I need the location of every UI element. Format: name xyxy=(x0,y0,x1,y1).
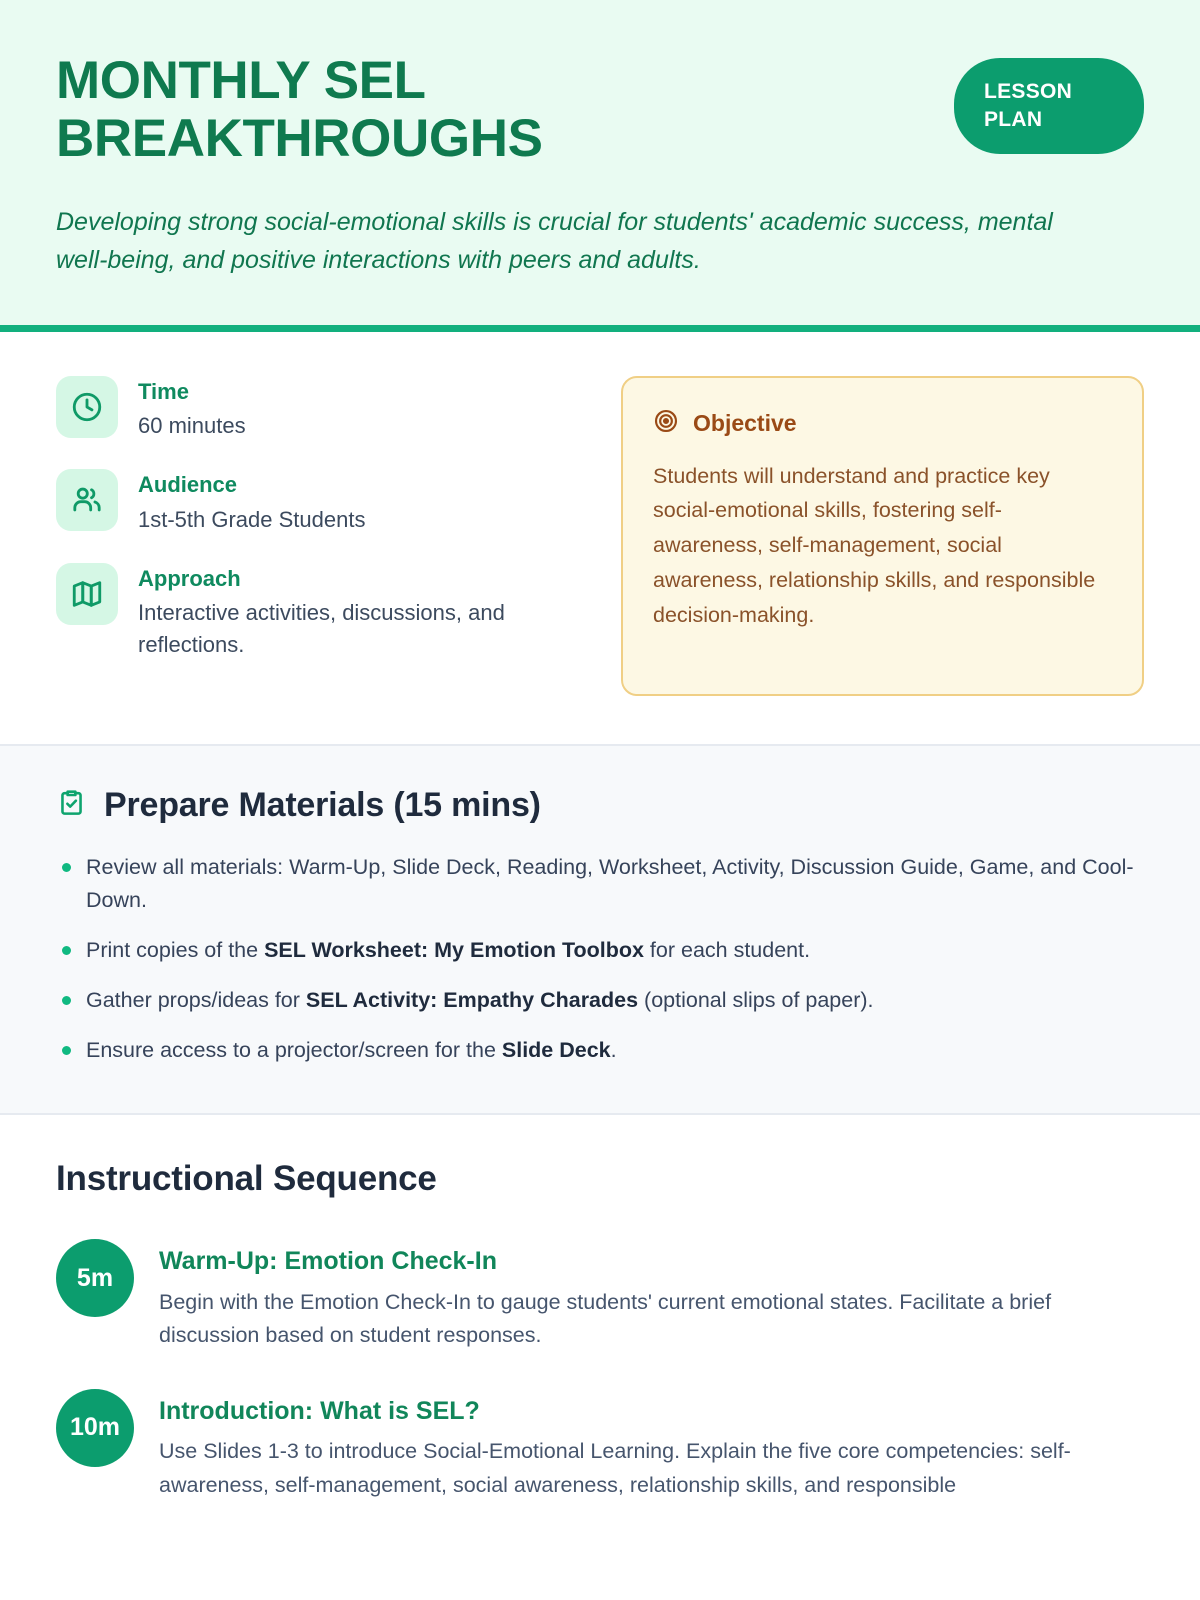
step-time-badge: 10m xyxy=(56,1389,134,1467)
materials-bullet: Print copies of the SEL Worksheet: My Em… xyxy=(56,934,1144,967)
objective-title: Objective xyxy=(693,410,797,437)
clipboard-check-icon xyxy=(56,787,87,823)
meta-item-approach: Approach Interactive activities, discuss… xyxy=(56,563,601,661)
map-icon xyxy=(56,563,118,625)
step-title: Introduction: What is SEL? xyxy=(159,1395,1089,1428)
step-time-badge: 5m xyxy=(56,1239,134,1317)
bullet-text: for each student. xyxy=(644,938,810,962)
materials-section: Prepare Materials (15 mins) Review all m… xyxy=(0,744,1200,1116)
materials-bullet: Review all materials: Warm-Up, Slide Dec… xyxy=(56,851,1144,917)
bullet-emphasis: SEL Activity: Empathy Charades xyxy=(306,988,638,1012)
sequence-section: Instructional Sequence 5m Warm-Up: Emoti… xyxy=(0,1115,1200,1578)
step-description: Begin with the Emotion Check-In to gauge… xyxy=(159,1286,1089,1353)
step-body: Warm-Up: Emotion Check-In Begin with the… xyxy=(159,1239,1089,1353)
sequence-step: 10m Introduction: What is SEL? Use Slide… xyxy=(56,1389,1144,1503)
bullet-text: Review all materials: Warm-Up, Slide Dec… xyxy=(86,855,1134,912)
lesson-plan-badge: LESSON PLAN xyxy=(954,58,1144,154)
meta-value-approach: Interactive activities, discussions, and… xyxy=(138,597,538,661)
bullet-text: Ensure access to a projector/screen for … xyxy=(86,1038,502,1062)
bullet-text: Print copies of the xyxy=(86,938,264,962)
materials-bullet: Gather props/ideas for SEL Activity: Emp… xyxy=(56,984,1144,1017)
lesson-plan-page: MONTHLY SEL BREAKTHROUGHS LESSON PLAN De… xyxy=(0,0,1200,1600)
clock-icon xyxy=(56,376,118,438)
bullet-text: Gather props/ideas for xyxy=(86,988,306,1012)
sequence-step: 5m Warm-Up: Emotion Check-In Begin with … xyxy=(56,1239,1144,1353)
meta-item-time: Time 60 minutes xyxy=(56,376,601,442)
meta-label-audience: Audience xyxy=(138,471,365,500)
bullet-emphasis: Slide Deck xyxy=(502,1038,611,1062)
objective-header: Objective xyxy=(653,408,1110,439)
meta-list: Time 60 minutes Audience 1st-5th Grade S… xyxy=(56,376,601,661)
materials-bullet: Ensure access to a projector/screen for … xyxy=(56,1034,1144,1067)
page-subtitle: Developing strong social-emotional skill… xyxy=(56,203,1066,279)
bullet-emphasis: SEL Worksheet: My Emotion Toolbox xyxy=(264,938,644,962)
meta-text-approach: Approach Interactive activities, discuss… xyxy=(138,563,538,661)
step-title: Warm-Up: Emotion Check-In xyxy=(159,1245,1089,1278)
step-body: Introduction: What is SEL? Use Slides 1-… xyxy=(159,1389,1089,1503)
header-row: MONTHLY SEL BREAKTHROUGHS LESSON PLAN xyxy=(56,52,1144,169)
objective-body: Students will understand and practice ke… xyxy=(653,459,1110,633)
meta-label-approach: Approach xyxy=(138,565,538,594)
meta-value-audience: 1st-5th Grade Students xyxy=(138,504,365,536)
materials-title: Prepare Materials (15 mins) xyxy=(104,786,541,825)
materials-header: Prepare Materials (15 mins) xyxy=(56,786,1144,825)
meta-text-audience: Audience 1st-5th Grade Students xyxy=(138,469,365,535)
info-section: Time 60 minutes Audience 1st-5th Grade S… xyxy=(0,332,1200,744)
materials-bullet-list: Review all materials: Warm-Up, Slide Dec… xyxy=(56,851,1144,1068)
step-description: Use Slides 1-3 to introduce Social-Emoti… xyxy=(159,1435,1089,1502)
target-icon xyxy=(653,408,679,439)
meta-text-time: Time 60 minutes xyxy=(138,376,246,442)
objective-card: Objective Students will understand and p… xyxy=(621,376,1144,696)
page-header: MONTHLY SEL BREAKTHROUGHS LESSON PLAN De… xyxy=(0,0,1200,332)
meta-item-audience: Audience 1st-5th Grade Students xyxy=(56,469,601,535)
users-icon xyxy=(56,469,118,531)
meta-label-time: Time xyxy=(138,378,246,407)
bullet-text: . xyxy=(611,1038,617,1062)
sequence-title: Instructional Sequence xyxy=(56,1159,1144,1199)
bullet-text: (optional slips of paper). xyxy=(638,988,873,1012)
page-title: MONTHLY SEL BREAKTHROUGHS xyxy=(56,52,776,169)
meta-value-time: 60 minutes xyxy=(138,410,246,442)
